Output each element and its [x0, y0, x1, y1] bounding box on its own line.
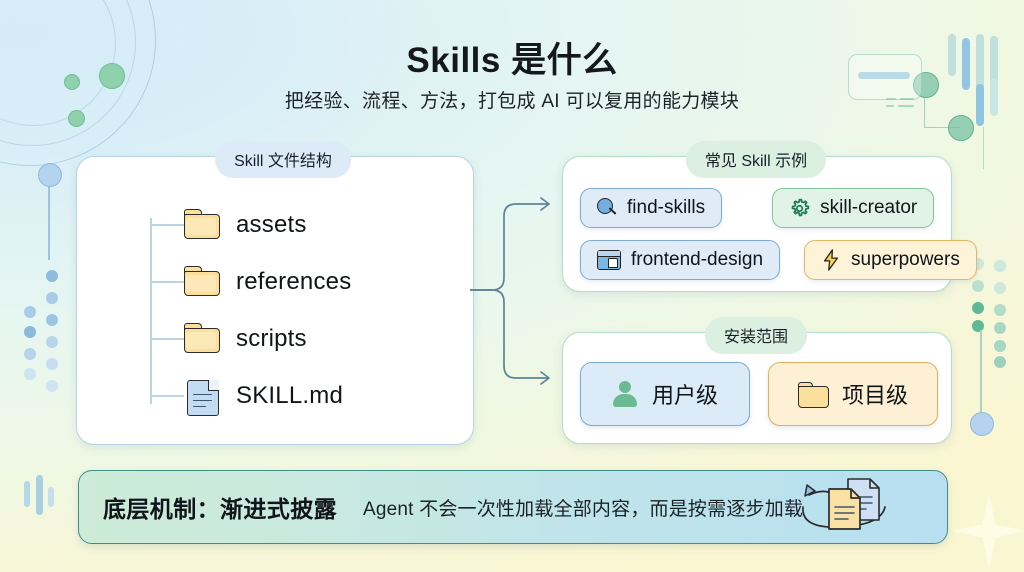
decorative-sparkle — [952, 494, 1024, 568]
tree-branch — [150, 338, 184, 340]
tree-item-label: scripts — [236, 325, 307, 353]
page-subtitle: 把经验、流程、方法，打包成 AI 可以复用的能力模块 — [0, 86, 1024, 113]
document-icon — [184, 380, 222, 412]
decorative-dot-grid-right — [972, 258, 1018, 368]
mechanism-description: Agent 不会一次性加载全部内容，而是按需逐步加载 — [363, 494, 803, 521]
decorative-vertical-line-right — [980, 330, 982, 420]
tree-item-label: references — [236, 268, 351, 296]
bolt-icon — [821, 249, 841, 271]
chip-find-skills[interactable]: find-skills — [580, 188, 722, 228]
chip-label: superpowers — [851, 249, 960, 271]
file-tree: assets references scripts — [150, 196, 351, 424]
tree-item-assets[interactable]: assets — [150, 196, 351, 253]
examples-chip-row-1: find-skills skill-creator — [580, 188, 934, 228]
gear-icon — [789, 198, 810, 219]
decorative-dot-blue-top — [38, 163, 62, 187]
decorative-arc-outer — [0, 0, 156, 166]
scope-option-row: 用户级 项目级 — [580, 362, 938, 426]
person-icon — [612, 381, 638, 407]
examples-chip-row-2: frontend-design superpowers — [580, 240, 977, 280]
scope-badge: 安装范围 — [705, 317, 807, 354]
scope-option-project[interactable]: 项目级 — [768, 362, 938, 426]
chip-label: frontend-design — [631, 249, 763, 271]
chip-frontend-design[interactable]: frontend-design — [580, 240, 780, 280]
decorative-dot-grid-left — [24, 270, 84, 390]
browser-icon — [597, 250, 621, 270]
mechanism-banner: 底层机制：渐进式披露 Agent 不会一次性加载全部内容，而是按需逐步加载 — [78, 470, 948, 544]
folder-icon — [184, 209, 222, 241]
scope-option-label: 项目级 — [842, 378, 908, 410]
tree-item-skill-md[interactable]: SKILL.md — [150, 367, 351, 424]
tree-item-label: SKILL.md — [236, 382, 343, 410]
chip-skill-creator[interactable]: skill-creator — [772, 188, 934, 228]
chip-superpowers[interactable]: superpowers — [804, 240, 977, 280]
scope-option-label: 用户级 — [652, 378, 718, 410]
decorative-bars-bottom-left — [20, 475, 64, 519]
folder-icon — [184, 266, 222, 298]
folder-icon — [184, 323, 222, 355]
documents-refresh-icon — [785, 477, 905, 539]
decorative-connector-path-2 — [983, 127, 985, 169]
chip-label: skill-creator — [820, 197, 917, 219]
infographic-canvas: Skills 是什么 把经验、流程、方法，打包成 AI 可以复用的能力模块 Sk… — [0, 0, 1024, 572]
tree-branch — [150, 224, 184, 226]
examples-badge: 常见 Skill 示例 — [686, 141, 826, 178]
tree-item-references[interactable]: references — [150, 253, 351, 310]
file-structure-badge: Skill 文件结构 — [215, 141, 351, 178]
scope-option-user[interactable]: 用户级 — [580, 362, 750, 426]
mechanism-title: 底层机制：渐进式披露 — [103, 490, 337, 524]
decorative-dot-blue-right — [970, 412, 994, 436]
chip-label: find-skills — [627, 197, 705, 219]
tree-branch — [150, 281, 184, 283]
folder-icon — [798, 382, 828, 407]
branch-connector — [470, 180, 570, 405]
search-icon — [597, 198, 617, 218]
page-title: Skills 是什么 — [0, 32, 1024, 83]
decorative-vertical-line-left — [48, 185, 50, 260]
tree-item-scripts[interactable]: scripts — [150, 310, 351, 367]
decorative-node-bottom — [948, 115, 974, 141]
branch-connector-svg — [470, 180, 570, 400]
tree-branch — [150, 395, 184, 397]
tree-item-label: assets — [236, 211, 307, 239]
